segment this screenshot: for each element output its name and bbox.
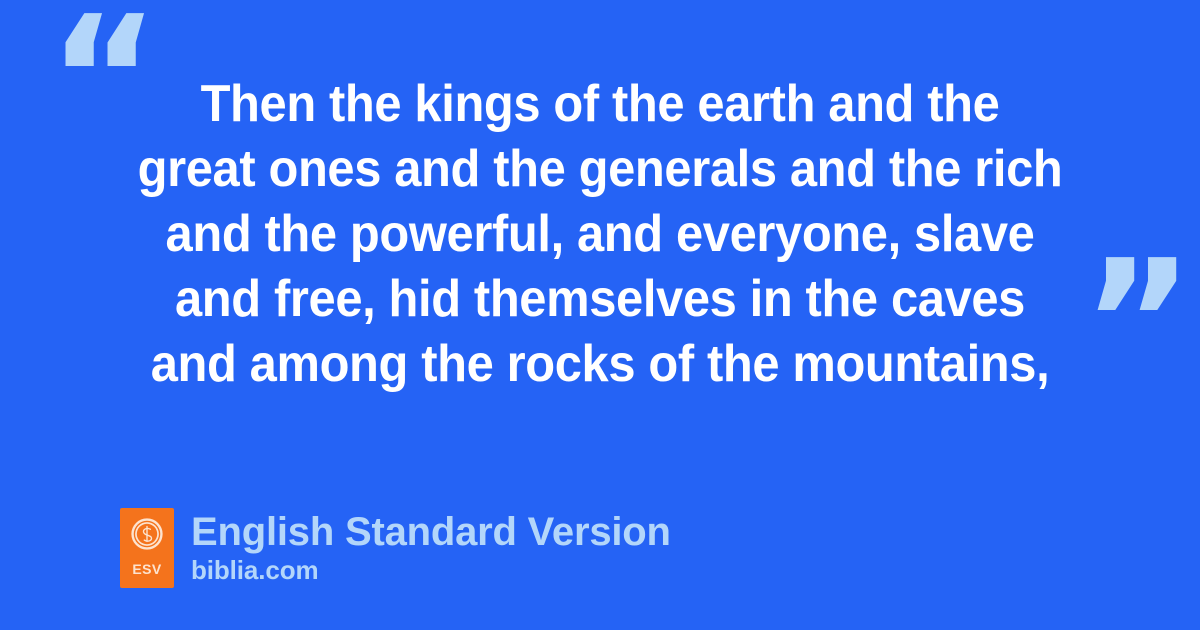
attribution-text: English Standard Version biblia.com <box>191 508 671 585</box>
bible-version-name: English Standard Version <box>191 510 671 554</box>
verse-share-card: “ ” Then the kings of the earth and the … <box>0 0 1200 630</box>
verse-line: and free, hid themselves in the caves <box>36 267 1164 332</box>
verse-line: and the powerful, and everyone, slave <box>36 202 1164 267</box>
verse-line: and among the rocks of the mountains, <box>36 332 1164 397</box>
esv-logo-label: ESV <box>132 562 161 576</box>
attribution: ESV English Standard Version biblia.com <box>120 508 671 588</box>
esv-seal-icon <box>130 517 164 551</box>
site-url[interactable]: biblia.com <box>191 555 671 585</box>
verse-line: great ones and the generals and the rich <box>36 137 1164 202</box>
verse-text: Then the kings of the earth and the grea… <box>0 72 1200 397</box>
verse-line: Then the kings of the earth and the <box>36 72 1164 137</box>
esv-logo: ESV <box>120 508 174 588</box>
